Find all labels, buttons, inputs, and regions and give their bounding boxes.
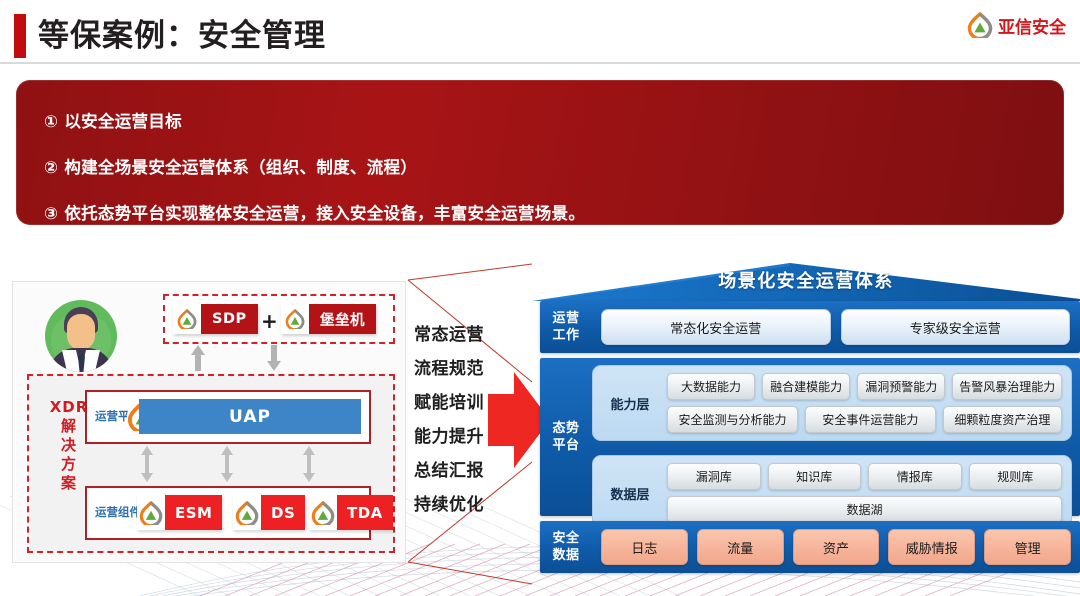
- xdr-label-line-1: XDR: [50, 398, 89, 416]
- activity-item-3: 赋能培训: [414, 386, 484, 420]
- operations-activities-list: 常态运营 流程规范 赋能培训 能力提升 总结汇报 持续优化: [414, 318, 484, 522]
- band3-label-line1: 安全: [552, 531, 579, 546]
- product-tda[interactable]: TDA: [309, 495, 393, 530]
- double-arrow-icon-2: [219, 446, 235, 482]
- security-operations-framework: 场景化安全运营体系 运营工作 常态化安全运营 专家级安全运营 态势平台 能力层: [532, 263, 1080, 583]
- capability-fusion-modeling[interactable]: 融合建模能力: [762, 373, 850, 400]
- xdr-label-line-2: 解: [61, 417, 77, 435]
- band-operations-work-label: 运营工作: [540, 301, 592, 353]
- capability-layer-group: 能力层 大数据能力 融合建模能力 漏洞预警能力 告警风暴治理能力 安全监测与分析…: [592, 365, 1072, 441]
- secdata-threat-intel[interactable]: 威胁情报: [888, 529, 975, 565]
- framework-roof-title: 场景化安全运营体系: [532, 267, 1080, 293]
- product-esm[interactable]: ESM: [137, 495, 222, 530]
- data-layer-group: 数据层 漏洞库 知识库 情报库 规则库 数据湖: [592, 455, 1072, 531]
- data-knowledge-db[interactable]: 知识库: [768, 463, 862, 490]
- band-operations-work-body: 常态化安全运营 专家级安全运营: [592, 301, 1080, 353]
- ds-logo-icon: [233, 495, 261, 530]
- capability-alert-storm[interactable]: 告警风暴治理能力: [952, 373, 1062, 400]
- product-sdp[interactable]: SDP: [173, 304, 258, 334]
- data-row-2: 数据湖: [667, 496, 1062, 523]
- product-tda-label: TDA: [337, 495, 393, 530]
- capability-incident-ops[interactable]: 安全事件运营能力: [805, 406, 936, 433]
- band2-label-line2: 平台: [552, 438, 579, 453]
- plus-connector: +: [261, 309, 278, 333]
- tda-logo-icon: [309, 495, 337, 530]
- capability-vuln-alert[interactable]: 漏洞预警能力: [857, 373, 945, 400]
- data-intel-db[interactable]: 情报库: [868, 463, 962, 490]
- ops-item-expert[interactable]: 专家级安全运营: [841, 309, 1071, 345]
- data-vuln-db[interactable]: 漏洞库: [667, 463, 761, 490]
- activity-item-2: 流程规范: [414, 352, 484, 386]
- product-bastion-label: 堡垒机: [309, 304, 376, 334]
- secdata-logs[interactable]: 日志: [601, 529, 688, 565]
- esm-logo-icon: [137, 495, 165, 530]
- xdr-label-line-5: 案: [61, 474, 77, 492]
- access-products-group: SDP + 堡垒机: [163, 294, 395, 344]
- header-divider: [0, 62, 1080, 64]
- secdata-management[interactable]: 管理: [984, 529, 1071, 565]
- capability-row-1: 大数据能力 融合建模能力 漏洞预警能力 告警风暴治理能力: [667, 373, 1062, 400]
- product-uap[interactable]: UAP: [139, 399, 361, 434]
- banner-line-2: ② 构建全场景安全运营体系（组织、制度、流程）: [44, 154, 417, 178]
- band-situational-platform-label: 态势平台: [540, 358, 592, 516]
- sdp-logo-icon: [173, 304, 201, 334]
- data-row-1: 漏洞库 知识库 情报库 规则库: [667, 463, 1062, 490]
- product-sdp-label: SDP: [201, 304, 258, 334]
- band3-label-line2: 数据: [552, 548, 579, 563]
- logo-text: 亚信安全: [998, 13, 1066, 38]
- capability-layer-label: 能力层: [593, 394, 667, 413]
- situational-platform-groups: 能力层 大数据能力 融合建模能力 漏洞预警能力 告警风暴治理能力 安全监测与分析…: [592, 358, 1080, 516]
- slide-root: 等保案例：安全管理 亚信安全 ① 以安全运营目标 ② 构建全场景安全运营体系（组…: [0, 0, 1080, 596]
- band2-label-line1: 态势: [552, 421, 579, 436]
- operations-platform-row: 运营平台 UAP: [85, 390, 371, 444]
- band-situational-platform: 态势平台 能力层 大数据能力 融合建模能力 漏洞预警能力 告警风暴治理能力 安全…: [540, 358, 1080, 516]
- xdr-group: XDR 解 决 方 案 运营平台 UAP: [27, 374, 395, 553]
- xdr-label-line-3: 决: [61, 436, 77, 454]
- band-operations-work: 运营工作 常态化安全运营 专家级安全运营: [540, 301, 1080, 353]
- capability-monitor-analysis[interactable]: 安全监测与分析能力: [667, 406, 798, 433]
- double-arrow-icon-3: [301, 446, 317, 482]
- summary-banner: ① 以安全运营目标 ② 构建全场景安全运营体系（组织、制度、流程） ③ 依托态势…: [16, 80, 1064, 225]
- secdata-traffic[interactable]: 流量: [697, 529, 784, 565]
- data-layer-label: 数据层: [593, 484, 667, 503]
- title-accent-bar: [14, 14, 26, 58]
- band-security-data-label: 安全数据: [540, 521, 592, 573]
- product-bastion[interactable]: 堡垒机: [281, 304, 376, 334]
- user-avatar-icon: [45, 300, 117, 372]
- band1-label-line2: 工作: [552, 328, 579, 343]
- activity-item-6: 持续优化: [414, 488, 484, 522]
- capability-layer-grid: 大数据能力 融合建模能力 漏洞预警能力 告警风暴治理能力 安全监测与分析能力 安…: [667, 366, 1071, 440]
- slide-header: 等保案例：安全管理 亚信安全: [0, 0, 1080, 72]
- operations-components-row: 运营组件 ESM: [85, 486, 371, 540]
- ops-item-routine[interactable]: 常态化安全运营: [601, 309, 831, 345]
- banner-line-3: ③ 依托态势平台实现整体安全运营，接入安全设备，丰富安全运营场景。: [44, 200, 585, 224]
- secdata-assets[interactable]: 资产: [793, 529, 880, 565]
- operations-components-label: 运营组件: [95, 504, 141, 520]
- capability-asset-governance[interactable]: 细颗粒度资产治理: [943, 406, 1062, 433]
- band-security-data: 安全数据 日志 流量 资产 威胁情报 管理: [540, 521, 1080, 573]
- banner-line-1: ① 以安全运营目标: [44, 108, 182, 132]
- brand-logo: 亚信安全: [967, 12, 1066, 38]
- capability-row-2: 安全监测与分析能力 安全事件运营能力 细颗粒度资产治理: [667, 406, 1062, 433]
- bastion-logo-icon: [281, 304, 309, 334]
- data-lake[interactable]: 数据湖: [667, 496, 1062, 523]
- band1-label-line1: 运营: [552, 311, 579, 326]
- product-esm-label: ESM: [165, 495, 222, 530]
- page-title: 等保案例：安全管理: [38, 10, 326, 62]
- data-layer-grid: 漏洞库 知识库 情报库 规则库 数据湖: [667, 456, 1071, 530]
- arrow-up-icon: [190, 345, 206, 371]
- product-ds-label: DS: [261, 495, 305, 530]
- product-ds[interactable]: DS: [233, 495, 305, 530]
- capability-bigdata[interactable]: 大数据能力: [667, 373, 755, 400]
- activity-item-1: 常态运营: [414, 318, 484, 352]
- arrow-down-icon: [266, 345, 282, 371]
- activity-item-4: 能力提升: [414, 420, 484, 454]
- xdr-label: XDR 解 决 方 案: [49, 398, 89, 493]
- data-rule-db[interactable]: 规则库: [969, 463, 1063, 490]
- band-security-data-body: 日志 流量 资产 威胁情报 管理: [592, 521, 1080, 573]
- xdr-solution-diagram: SDP + 堡垒机 XDR 解: [12, 281, 406, 563]
- activity-item-5: 总结汇报: [414, 454, 484, 488]
- xdr-label-line-4: 方: [61, 455, 77, 473]
- double-arrow-icon-1: [139, 446, 155, 482]
- asiainfo-drop-icon: [967, 12, 993, 38]
